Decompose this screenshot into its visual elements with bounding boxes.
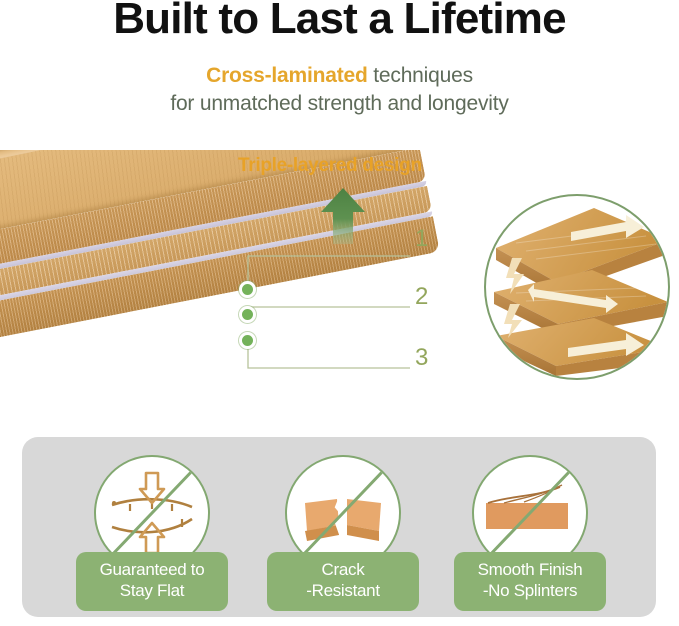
layer-dot-1 xyxy=(239,281,256,298)
feature-label-smooth-finish: Smooth Finish -No Splinters xyxy=(454,552,606,611)
layer-dot-2 xyxy=(239,306,256,323)
layer-number-2: 2 xyxy=(415,283,428,311)
feature-label-line2: -Resistant xyxy=(279,580,407,601)
cross-laminated-layers-icon xyxy=(484,194,670,380)
layer-number-3: 3 xyxy=(415,344,428,372)
feature-label-line2: Stay Flat xyxy=(88,580,216,601)
feature-label-crack-resistant: Crack -Resistant xyxy=(267,552,419,611)
layer-callouts xyxy=(0,150,470,400)
page-subtitle: Cross-laminated techniques for unmatched… xyxy=(0,62,679,117)
subtitle-line2: for unmatched strength and longevity xyxy=(170,92,508,115)
feature-label-stay-flat: Guaranteed to Stay Flat xyxy=(76,552,228,611)
feature-label-line1: Smooth Finish xyxy=(478,560,583,579)
page-title: Built to Last a Lifetime xyxy=(0,0,679,44)
feature-smooth-finish[interactable]: Smooth Finish -No Splinters xyxy=(435,455,625,605)
feature-crack-resistant[interactable]: Crack -Resistant xyxy=(248,455,438,605)
feature-stay-flat[interactable]: Guaranteed to Stay Flat xyxy=(57,455,247,605)
layer-number-1: 1 xyxy=(415,225,428,253)
feature-label-line1: Crack xyxy=(322,560,365,579)
features-panel: Guaranteed to Stay Flat Crack -Resistant xyxy=(22,437,656,617)
feature-label-line1: Guaranteed to xyxy=(100,560,205,579)
subtitle-rest: techniques xyxy=(368,64,473,87)
subtitle-highlight: Cross-laminated xyxy=(206,64,368,87)
layer-dot-3 xyxy=(239,332,256,349)
layer-slab-bottom xyxy=(496,318,668,376)
callout-leader-lines xyxy=(0,150,470,400)
feature-label-line2: -No Splinters xyxy=(466,580,594,601)
